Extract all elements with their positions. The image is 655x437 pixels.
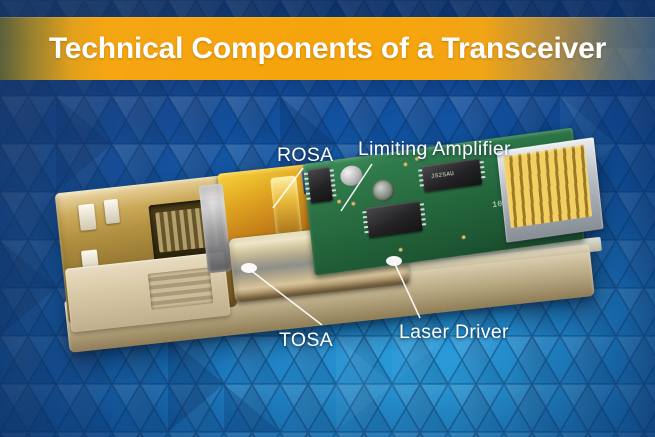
callout-label-laser-driver: Laser Driver [399, 321, 509, 344]
callout-leader-lines [0, 0, 655, 437]
callout-label-rosa: ROSA [277, 144, 333, 167]
graphic-canvas: Technical Components of a Transceiver 25… [0, 0, 655, 437]
callout-label-tosa: TOSA [279, 329, 333, 352]
callout-label-limiting-amplifier: Limiting Amplifier [358, 138, 511, 161]
